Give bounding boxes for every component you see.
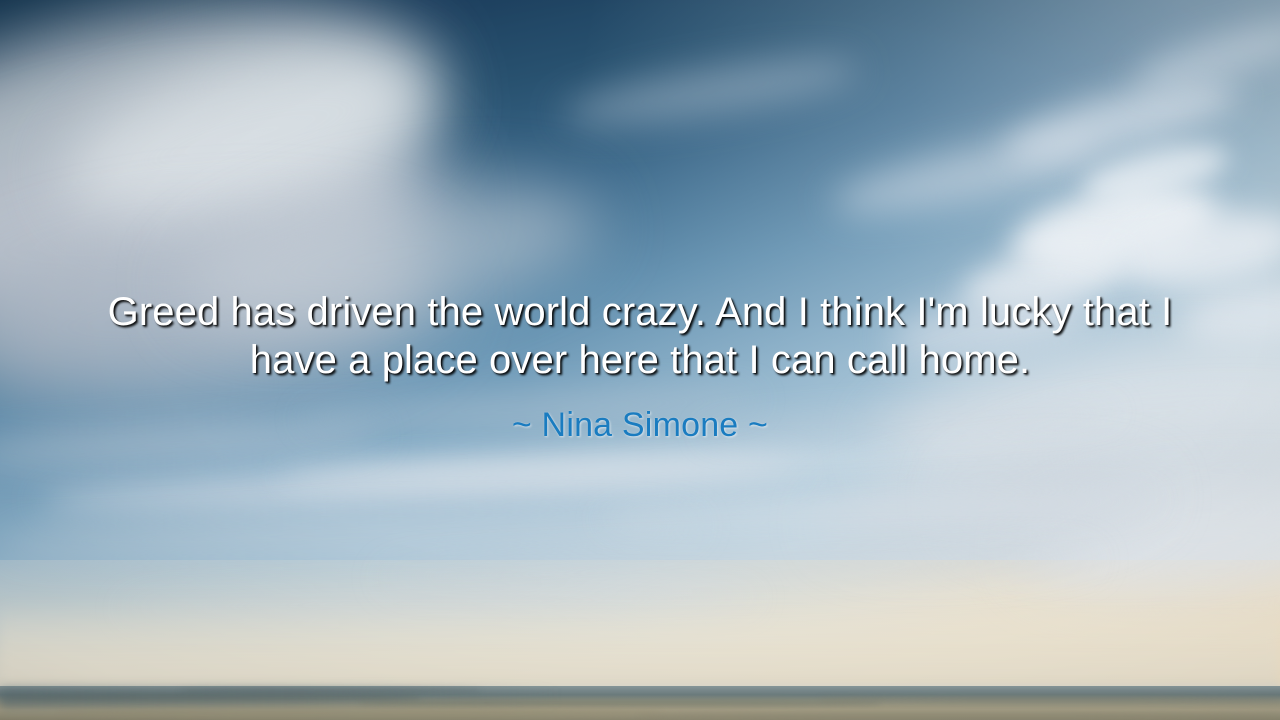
quote-image-canvas: Greed has driven the world crazy. And I … [0, 0, 1280, 720]
cirrus-wisp-1 [558, 47, 861, 137]
quote-block: Greed has driven the world crazy. And I … [0, 288, 1280, 445]
quote-text: Greed has driven the world crazy. And I … [95, 288, 1185, 384]
horizon-haze [0, 600, 1280, 695]
landscape-streak-1 [0, 694, 420, 701]
landscape-streak-6 [180, 688, 480, 693]
cloud-streak-3 [0, 511, 700, 559]
landscape-streak-3 [820, 696, 1280, 703]
landscape-streak-4 [60, 709, 660, 717]
landscape-streak-2 [360, 700, 880, 706]
quote-author: ~ Nina Simone ~ [56, 405, 1224, 445]
landscape-streak-5 [640, 712, 1280, 720]
cloud-streak-4 [380, 547, 1100, 592]
